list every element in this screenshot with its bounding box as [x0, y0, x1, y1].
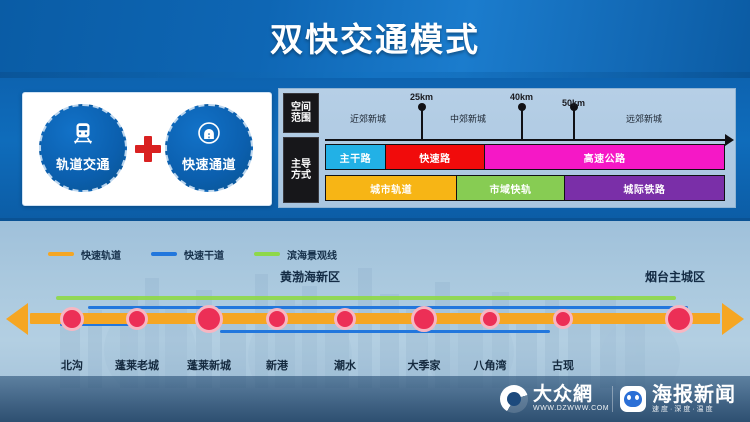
concept-circle-label: 轨道交通: [41, 154, 125, 173]
station-marker[interactable]: [195, 305, 223, 333]
station-name: 大季家: [408, 357, 441, 373]
axis-tick: [421, 109, 423, 139]
rail-segment[interactable]: 城市轨道: [326, 176, 457, 200]
row-label-spatial-range: 空间 范围: [283, 93, 319, 133]
row-label-line1: 空间: [291, 102, 311, 113]
station-marker[interactable]: [665, 305, 693, 333]
haibao-app-icon: [620, 386, 646, 412]
station-marker[interactable]: [266, 308, 288, 330]
legend-label: 滨海景观线: [287, 247, 337, 262]
road-segment[interactable]: 高速公路: [485, 145, 724, 169]
rail-mode-bar: 城市轨道市域快轨城际铁路: [325, 175, 725, 201]
train-icon: [41, 120, 125, 151]
map-top-rule: [0, 218, 750, 221]
express-road-line: [88, 306, 688, 309]
row-label-dominant-mode: 主导 方式: [283, 137, 319, 203]
legend-label: 快速干道: [184, 247, 224, 262]
station-marker[interactable]: [411, 306, 437, 332]
road-mode-bar: 主干路快速路高速公路: [325, 144, 725, 170]
legend-label: 快速轨道: [81, 247, 121, 262]
axis-zone-label: 中郊新城: [450, 112, 486, 125]
road-segment[interactable]: 主干路: [326, 145, 386, 169]
axis-tick-label: 40km: [510, 92, 533, 102]
station-name: 古现: [552, 357, 574, 373]
concept-card: 轨道交通 快速通道: [22, 92, 272, 206]
tunnel-icon: [167, 120, 251, 151]
legend-swatch: [254, 252, 280, 256]
road-segment[interactable]: 快速路: [386, 145, 486, 169]
legend-item: 快速轨道: [48, 247, 121, 262]
map-legend: 快速轨道快速干道滨海景观线: [48, 247, 367, 261]
corridor-lines: [0, 290, 750, 345]
station-name: 蓬莱老城: [115, 357, 159, 373]
logo-haibao-name: 海报新闻: [652, 385, 736, 405]
logo-dazhong-name: 大众網: [533, 385, 609, 404]
axis-arrowhead: [725, 134, 734, 146]
legend-swatch: [151, 252, 177, 256]
station-marker[interactable]: [126, 308, 148, 330]
concept-circle-rail[interactable]: 轨道交通: [39, 104, 127, 192]
page-title: 双快交通模式: [0, 13, 750, 61]
logo-haibao-slogan: 速度·深度·温度: [652, 405, 736, 414]
legend-item: 滨海景观线: [254, 247, 337, 262]
infographic-canvas: 双快交通模式 轨道交通: [0, 0, 750, 422]
axis-zone-label: 近郊新城: [350, 112, 386, 125]
station-name: 蓬莱新城: [187, 357, 231, 373]
corridor-arrow-right-icon: [722, 303, 744, 335]
axis-zone-label: 远郊新城: [626, 112, 662, 125]
title-banner: 双快交通模式: [0, 0, 750, 78]
dazhong-mark-icon: [500, 385, 528, 413]
station-name: 潮水: [334, 357, 356, 373]
axis-tick: [573, 109, 575, 139]
station-name: 新港: [266, 357, 288, 373]
legend-item: 快速干道: [151, 247, 224, 262]
legend-swatch: [48, 252, 74, 256]
rail-segment[interactable]: 市域快轨: [457, 176, 564, 200]
station-name: 八角湾: [474, 357, 507, 373]
row-label-line2: 范围: [291, 113, 311, 124]
logo-dazhong[interactable]: 大众網 WWW.DZWWW.COM: [500, 384, 609, 414]
distance-axis: [325, 139, 725, 141]
row-label-line1: 主导: [291, 159, 311, 170]
plus-sign-icon: [135, 136, 161, 162]
corridor-arrow-left-icon: [6, 303, 28, 335]
rail-segment[interactable]: 城际铁路: [565, 176, 724, 200]
logo-dazhong-url: WWW.DZWWW.COM: [533, 404, 609, 413]
axis-tick: [521, 109, 523, 139]
station-marker[interactable]: [553, 309, 573, 329]
station-marker[interactable]: [60, 307, 84, 331]
concept-circle-label: 快速通道: [167, 154, 251, 173]
row-label-line2: 方式: [291, 170, 311, 181]
concept-circle-express[interactable]: 快速通道: [165, 104, 253, 192]
logo-divider: [612, 386, 613, 412]
coastal-scenic-line: [56, 296, 676, 300]
axis-tick-label: 25km: [410, 92, 433, 102]
express-road-line: [220, 330, 550, 333]
region-label: 黄渤海新区: [280, 268, 340, 285]
station-name: 北沟: [61, 357, 83, 373]
axis-tick-label: 50km: [562, 98, 585, 108]
station-marker[interactable]: [334, 308, 356, 330]
logo-haibao[interactable]: 海报新闻 速度·深度·温度: [620, 384, 736, 414]
corridor-diagram: 空间 范围 主导 方式 25km40km50km 近郊新城中郊新城远郊新城 主干…: [278, 88, 736, 208]
axis-tick-dot: [418, 103, 426, 111]
axis-tick-dot: [518, 103, 526, 111]
station-marker[interactable]: [480, 309, 500, 329]
region-label: 烟台主城区: [645, 268, 705, 285]
